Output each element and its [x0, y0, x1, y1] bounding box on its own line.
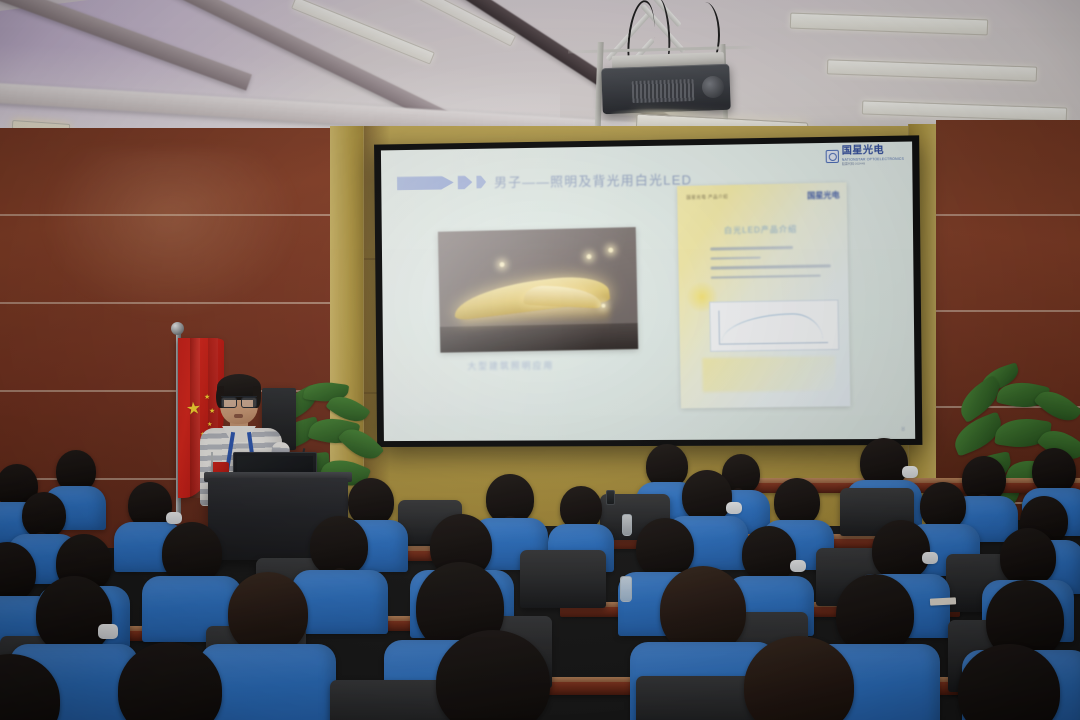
conference-hall-scene: 国星光电 NATIONSTAR OPTOELECTRONICS 股票代码 002…	[0, 0, 1080, 720]
projector-vent	[632, 79, 695, 103]
projection-screen-surface: 国星光电 NATIONSTAR OPTOELECTRONICS 股票代码 002…	[381, 142, 915, 442]
subslide-bullet-list	[710, 245, 836, 286]
slide-title-bar: 男子——照明及背光用白光LED	[397, 169, 692, 192]
subslide-header: 国星光电 产品介绍	[686, 194, 728, 201]
flag-pole-finial	[171, 322, 184, 335]
subslide-title: 白光LED产品介绍	[724, 224, 797, 237]
photo-streetlamp-4	[601, 304, 605, 308]
slide-title: 男子——照明及背光用白光LED	[494, 169, 692, 191]
slide-photo-night-building	[438, 227, 638, 353]
slide-brand-logo: 国星光电 NATIONSTAR OPTOELECTRONICS 股票代码 002…	[825, 146, 904, 166]
subslide-bullet-4	[711, 274, 821, 279]
ceiling-light-1	[790, 13, 988, 36]
ceiling-light-3	[862, 100, 1067, 121]
ceiling-light-2	[827, 59, 1037, 81]
slide-embedded-subslide: 国星光电 产品介绍 国星光电 白光LED产品介绍	[677, 182, 850, 408]
subslide-bullet-1	[710, 246, 792, 250]
presenter-glasses	[221, 396, 257, 405]
arrow-banner-icon	[397, 175, 454, 190]
subslide-bullet-3	[711, 265, 831, 270]
chevron-right-icon-small	[476, 175, 486, 188]
slide-photo-caption: 大型建筑照明应用	[467, 359, 554, 373]
subslide-footer-band	[702, 356, 836, 392]
subslide-bullet-2	[710, 256, 760, 260]
photo-streetlamp-1	[500, 262, 505, 267]
projection-screen[interactable]: 国星光电 NATIONSTAR OPTOELECTRONICS 股票代码 002…	[374, 135, 922, 447]
subslide-chart	[709, 300, 839, 352]
logo-mark-icon	[825, 150, 838, 163]
wall-left-sheen	[40, 150, 300, 320]
photo-streetlamp-2	[586, 254, 591, 259]
photo-streetlamp-3	[608, 248, 613, 253]
slide-logo-sub: 股票代码 002449	[842, 162, 904, 166]
subslide-chart-curve	[718, 309, 828, 345]
subslide-logo: 国星光电	[807, 190, 840, 202]
audience	[0, 430, 1080, 720]
chevron-right-icon	[458, 175, 473, 189]
slide-logo-cn: 国星光电	[842, 146, 904, 157]
presenter-mouth	[234, 414, 243, 418]
